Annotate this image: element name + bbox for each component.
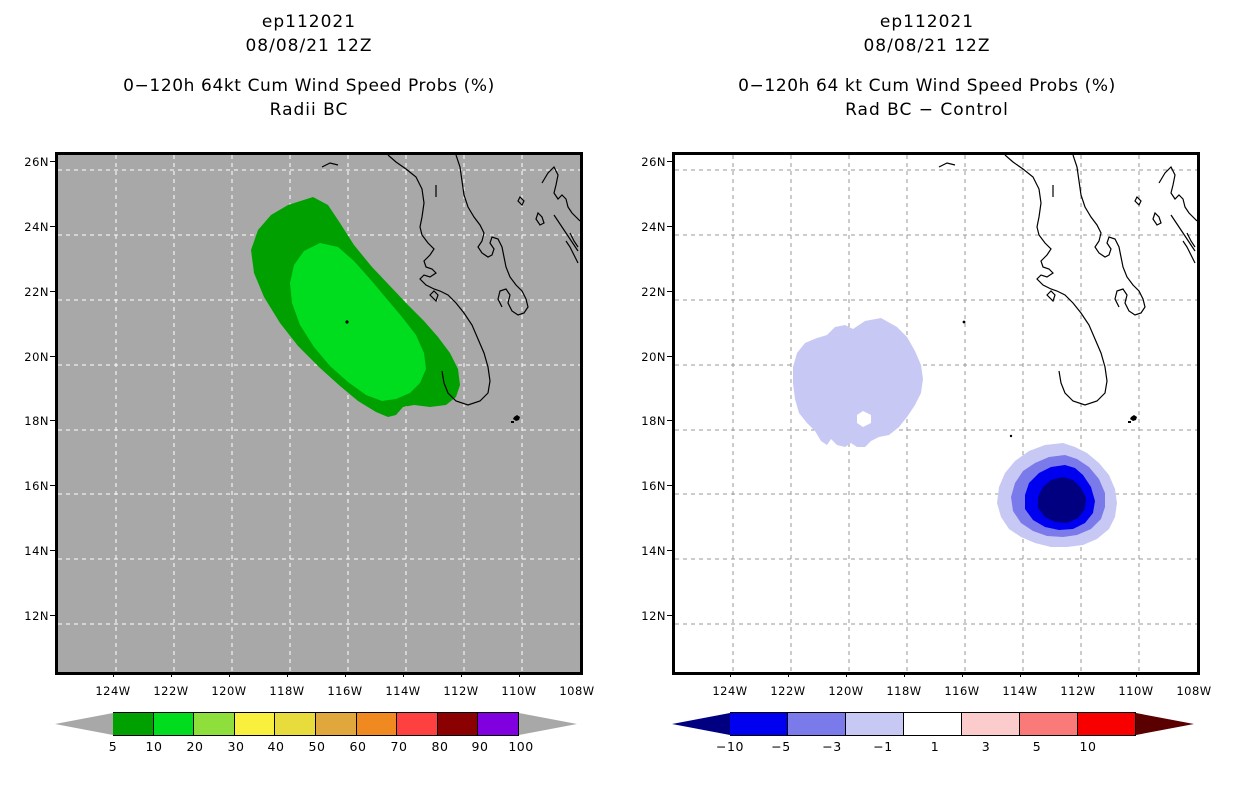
y-tick-label-18N-right: 18N <box>622 414 666 428</box>
colorbar-segment-neg10-neg5 <box>730 712 788 736</box>
cb-label-neg5: −5 <box>771 739 790 754</box>
right-storm-id: ep112021 <box>618 12 1236 32</box>
y-tick-label-22N: 22N <box>5 285 49 299</box>
right-map-canvas <box>675 155 1197 672</box>
island-marker-right <box>1128 415 1137 423</box>
y-tick-label-14N: 14N <box>5 544 49 558</box>
storm-center-dot-left <box>345 320 348 323</box>
left-title-block: ep112021 08/08/21 12Z 0−120h 64kt Cum Wi… <box>0 0 618 120</box>
x-tick-label-118W: 118W <box>262 684 312 698</box>
contour-neg1-neg3-northwest <box>793 318 923 447</box>
left-chart-title: 0−120h 64kt Cum Wind Speed Probs (%) <box>0 76 618 96</box>
cb-label-20: 20 <box>187 739 204 754</box>
cb-label-50: 50 <box>309 739 326 754</box>
y-tick-label-16N-right: 16N <box>622 479 666 493</box>
cb-label-pos10: 10 <box>1080 739 1097 754</box>
colorbar-segment-10-20 <box>154 712 195 736</box>
x-tick-label-110W-right: 110W <box>1111 684 1161 698</box>
panel-rad-bc-control: ep112021 08/08/21 12Z 0−120h 64 kt Cum W… <box>618 0 1236 800</box>
x-tick-label-108W: 108W <box>552 684 602 698</box>
left-probability-contours <box>251 197 460 417</box>
probability-colorbar-swatches <box>55 712 577 736</box>
right-chart-subtitle: Rad BC − Control <box>618 100 1236 120</box>
colorbar-segment-70-80 <box>397 712 438 736</box>
x-tick-label-112W: 112W <box>436 684 486 698</box>
cb-label-pos1: 1 <box>931 739 939 754</box>
cb-label-neg10: −10 <box>716 739 744 754</box>
right-chart-title: 0−120h 64 kt Cum Wind Speed Probs (%) <box>618 76 1236 96</box>
y-tick-label-12N-right: 12N <box>622 609 666 623</box>
colorbar-segment-pos5-pos10 <box>1078 712 1136 736</box>
right-title-block: ep112021 08/08/21 12Z 0−120h 64 kt Cum W… <box>618 0 1236 120</box>
x-tick-label-122W-right: 122W <box>763 684 813 698</box>
colorbar-segment-neg5-neg3 <box>788 712 846 736</box>
right-gridlines <box>675 155 1197 672</box>
marker-dot-right <box>1010 435 1012 437</box>
colorbar-high-cap-left <box>519 712 577 736</box>
panel-radii-bc: ep112021 08/08/21 12Z 0−120h 64kt Cum Wi… <box>0 0 618 800</box>
y-tick-label-26N-right: 26N <box>622 155 666 169</box>
x-tick-label-118W-right: 118W <box>879 684 929 698</box>
cb-label-30: 30 <box>228 739 245 754</box>
cb-label-neg1: −1 <box>873 739 892 754</box>
x-tick-label-120W: 120W <box>204 684 254 698</box>
x-tick-label-122W: 122W <box>146 684 196 698</box>
left-map-canvas <box>58 155 580 672</box>
x-tick-label-116W: 116W <box>320 684 370 698</box>
y-tick-label-22N-right: 22N <box>622 285 666 299</box>
cb-label-60: 60 <box>350 739 367 754</box>
right-difference-contours <box>793 318 1117 547</box>
cb-label-10: 10 <box>146 739 163 754</box>
x-tick-label-120W-right: 120W <box>821 684 871 698</box>
y-tick-label-16N: 16N <box>5 479 49 493</box>
island-marker-left <box>511 415 520 423</box>
colorbar-segment-50-60 <box>316 712 357 736</box>
colorbar-segment-40-50 <box>275 712 316 736</box>
contour-10-20 <box>290 243 426 401</box>
right-map-plot-area <box>672 152 1200 675</box>
cb-label-neg3: −3 <box>822 739 841 754</box>
cb-label-5: 5 <box>109 739 117 754</box>
y-tick-label-24N: 24N <box>5 220 49 234</box>
colorbar-segment-20-30 <box>194 712 235 736</box>
right-map-svg <box>675 155 1197 672</box>
x-tick-label-116W-right: 116W <box>937 684 987 698</box>
cb-label-90: 90 <box>472 739 489 754</box>
left-storm-id: ep112021 <box>0 12 618 32</box>
cb-label-70: 70 <box>391 739 408 754</box>
y-tick-label-12N: 12N <box>5 609 49 623</box>
probability-colorbar-labels: 5 10 20 30 40 50 60 70 80 90 100 <box>55 739 577 759</box>
y-tick-label-20N: 20N <box>5 350 49 364</box>
wind-speed-probability-figure: ep112021 08/08/21 12Z 0−120h 64kt Cum Wi… <box>0 0 1236 800</box>
right-date-label: 08/08/21 12Z <box>618 36 1236 56</box>
cb-label-pos3: 3 <box>982 739 990 754</box>
x-tick-label-112W-right: 112W <box>1053 684 1103 698</box>
colorbar-segment-60-70 <box>357 712 398 736</box>
left-chart-subtitle: Radii BC <box>0 100 618 120</box>
colorbar-segment-pos3-pos5 <box>1020 712 1078 736</box>
x-tick-label-108W-right: 108W <box>1169 684 1219 698</box>
cb-label-100: 100 <box>508 739 533 754</box>
x-tick-label-124W: 124W <box>88 684 138 698</box>
y-tick-label-24N-right: 24N <box>622 220 666 234</box>
y-tick-label-26N: 26N <box>5 155 49 169</box>
x-tick-label-114W-right: 114W <box>995 684 1045 698</box>
probability-colorbar: 5 10 20 30 40 50 60 70 80 90 100 <box>55 712 577 772</box>
left-date-label: 08/08/21 12Z <box>0 36 618 56</box>
cb-label-80: 80 <box>432 739 449 754</box>
colorbar-segment-neg1-pos1 <box>904 712 962 736</box>
difference-colorbar-swatches <box>672 712 1194 736</box>
difference-colorbar-labels: −10 −5 −3 −1 1 3 5 10 <box>672 739 1194 759</box>
colorbar-segment-pos1-pos3 <box>962 712 1020 736</box>
x-tick-label-110W: 110W <box>494 684 544 698</box>
right-coastline <box>939 155 1197 405</box>
storm-center-dot-right <box>963 321 966 324</box>
y-tick-label-18N: 18N <box>5 414 49 428</box>
difference-colorbar: −10 −5 −3 −1 1 3 5 10 <box>672 712 1194 772</box>
y-tick-label-20N-right: 20N <box>622 350 666 364</box>
left-map-svg <box>58 155 580 672</box>
colorbar-segment-neg3-neg1 <box>846 712 904 736</box>
cb-label-40: 40 <box>268 739 285 754</box>
colorbar-low-cap-right <box>672 712 730 736</box>
x-tick-label-114W: 114W <box>378 684 428 698</box>
x-tick-label-124W-right: 124W <box>705 684 755 698</box>
cb-label-pos5: 5 <box>1033 739 1041 754</box>
colorbar-low-cap-left <box>55 712 113 736</box>
colorbar-segment-5-10 <box>113 712 154 736</box>
colorbar-high-cap-right <box>1136 712 1194 736</box>
left-map-plot-area <box>55 152 583 675</box>
colorbar-segment-30-40 <box>235 712 276 736</box>
colorbar-segment-80-90 <box>438 712 479 736</box>
colorbar-segment-90-100 <box>478 712 519 736</box>
y-tick-label-14N-right: 14N <box>622 544 666 558</box>
